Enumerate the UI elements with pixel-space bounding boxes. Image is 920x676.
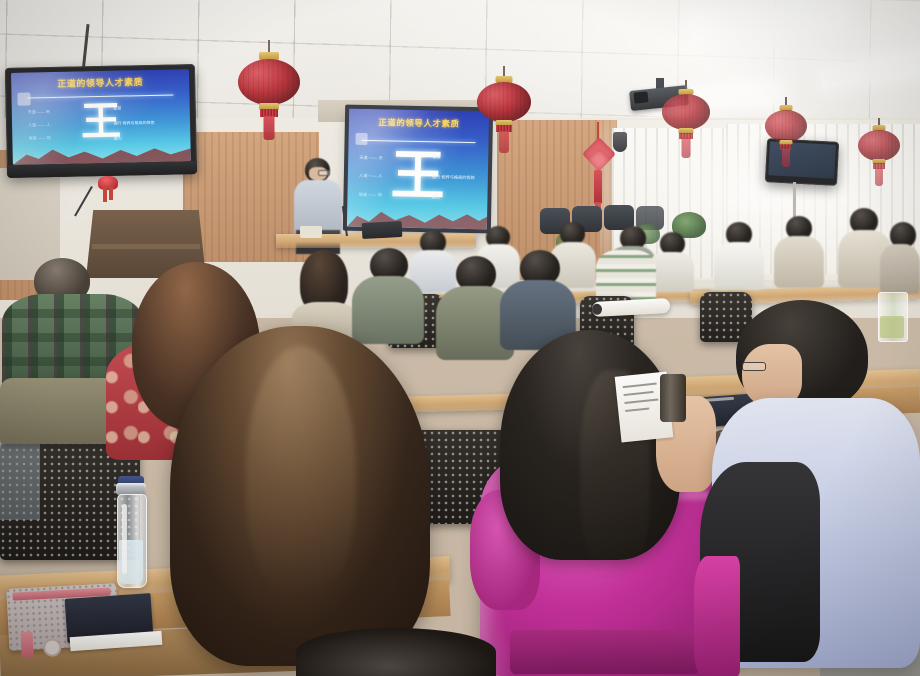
photo-scene: 正道的领导人才素质 王 天道 —— 天 人道 —— 人 地道 —— 地 智慧 德…	[0, 0, 920, 676]
projection-slide: 正道的领导人才素质 王 天道 —— 天 人道 —— 人 地道 —— 地 智慧 德…	[347, 109, 489, 230]
podium-trim	[92, 244, 200, 249]
table-papers	[300, 226, 322, 238]
projection-screen[interactable]: 正道的领导人才素质 王 天道 —— 天 人道 —— 人 地道 —— 地 智慧 德…	[347, 109, 489, 230]
audience-head-partial	[296, 628, 496, 676]
left-wall-tv[interactable]: 正道的领导人才素质 王 天道 —— 天 人道 —— 人 地道 —— 地 智慧 德…	[5, 64, 197, 178]
red-lantern	[238, 40, 300, 140]
presenter-glasses	[318, 170, 330, 176]
chinese-knot	[578, 122, 618, 218]
laptop	[362, 221, 403, 239]
audience-striped-shirt	[596, 240, 656, 302]
bottle-highlight	[122, 504, 127, 574]
red-lantern	[662, 80, 710, 160]
red-lantern	[858, 118, 900, 188]
thermos[interactable]	[660, 374, 686, 422]
bag-charm	[43, 638, 62, 657]
red-lantern	[765, 97, 807, 169]
red-flower-decor	[96, 174, 120, 200]
jacket-hem	[510, 630, 700, 674]
hair-highlight	[246, 346, 356, 596]
pink-jacket-lower	[694, 556, 740, 676]
glasses	[742, 362, 766, 371]
woman-long-hair-front	[150, 326, 450, 676]
red-lantern	[477, 66, 531, 154]
left-tv-slide: 正道的领导人才素质 王 天道 —— 天 人道 —— 人 地道 —— 地 智慧 德…	[11, 69, 191, 165]
water-bottle[interactable]	[110, 476, 152, 588]
projector-lens	[633, 91, 648, 103]
